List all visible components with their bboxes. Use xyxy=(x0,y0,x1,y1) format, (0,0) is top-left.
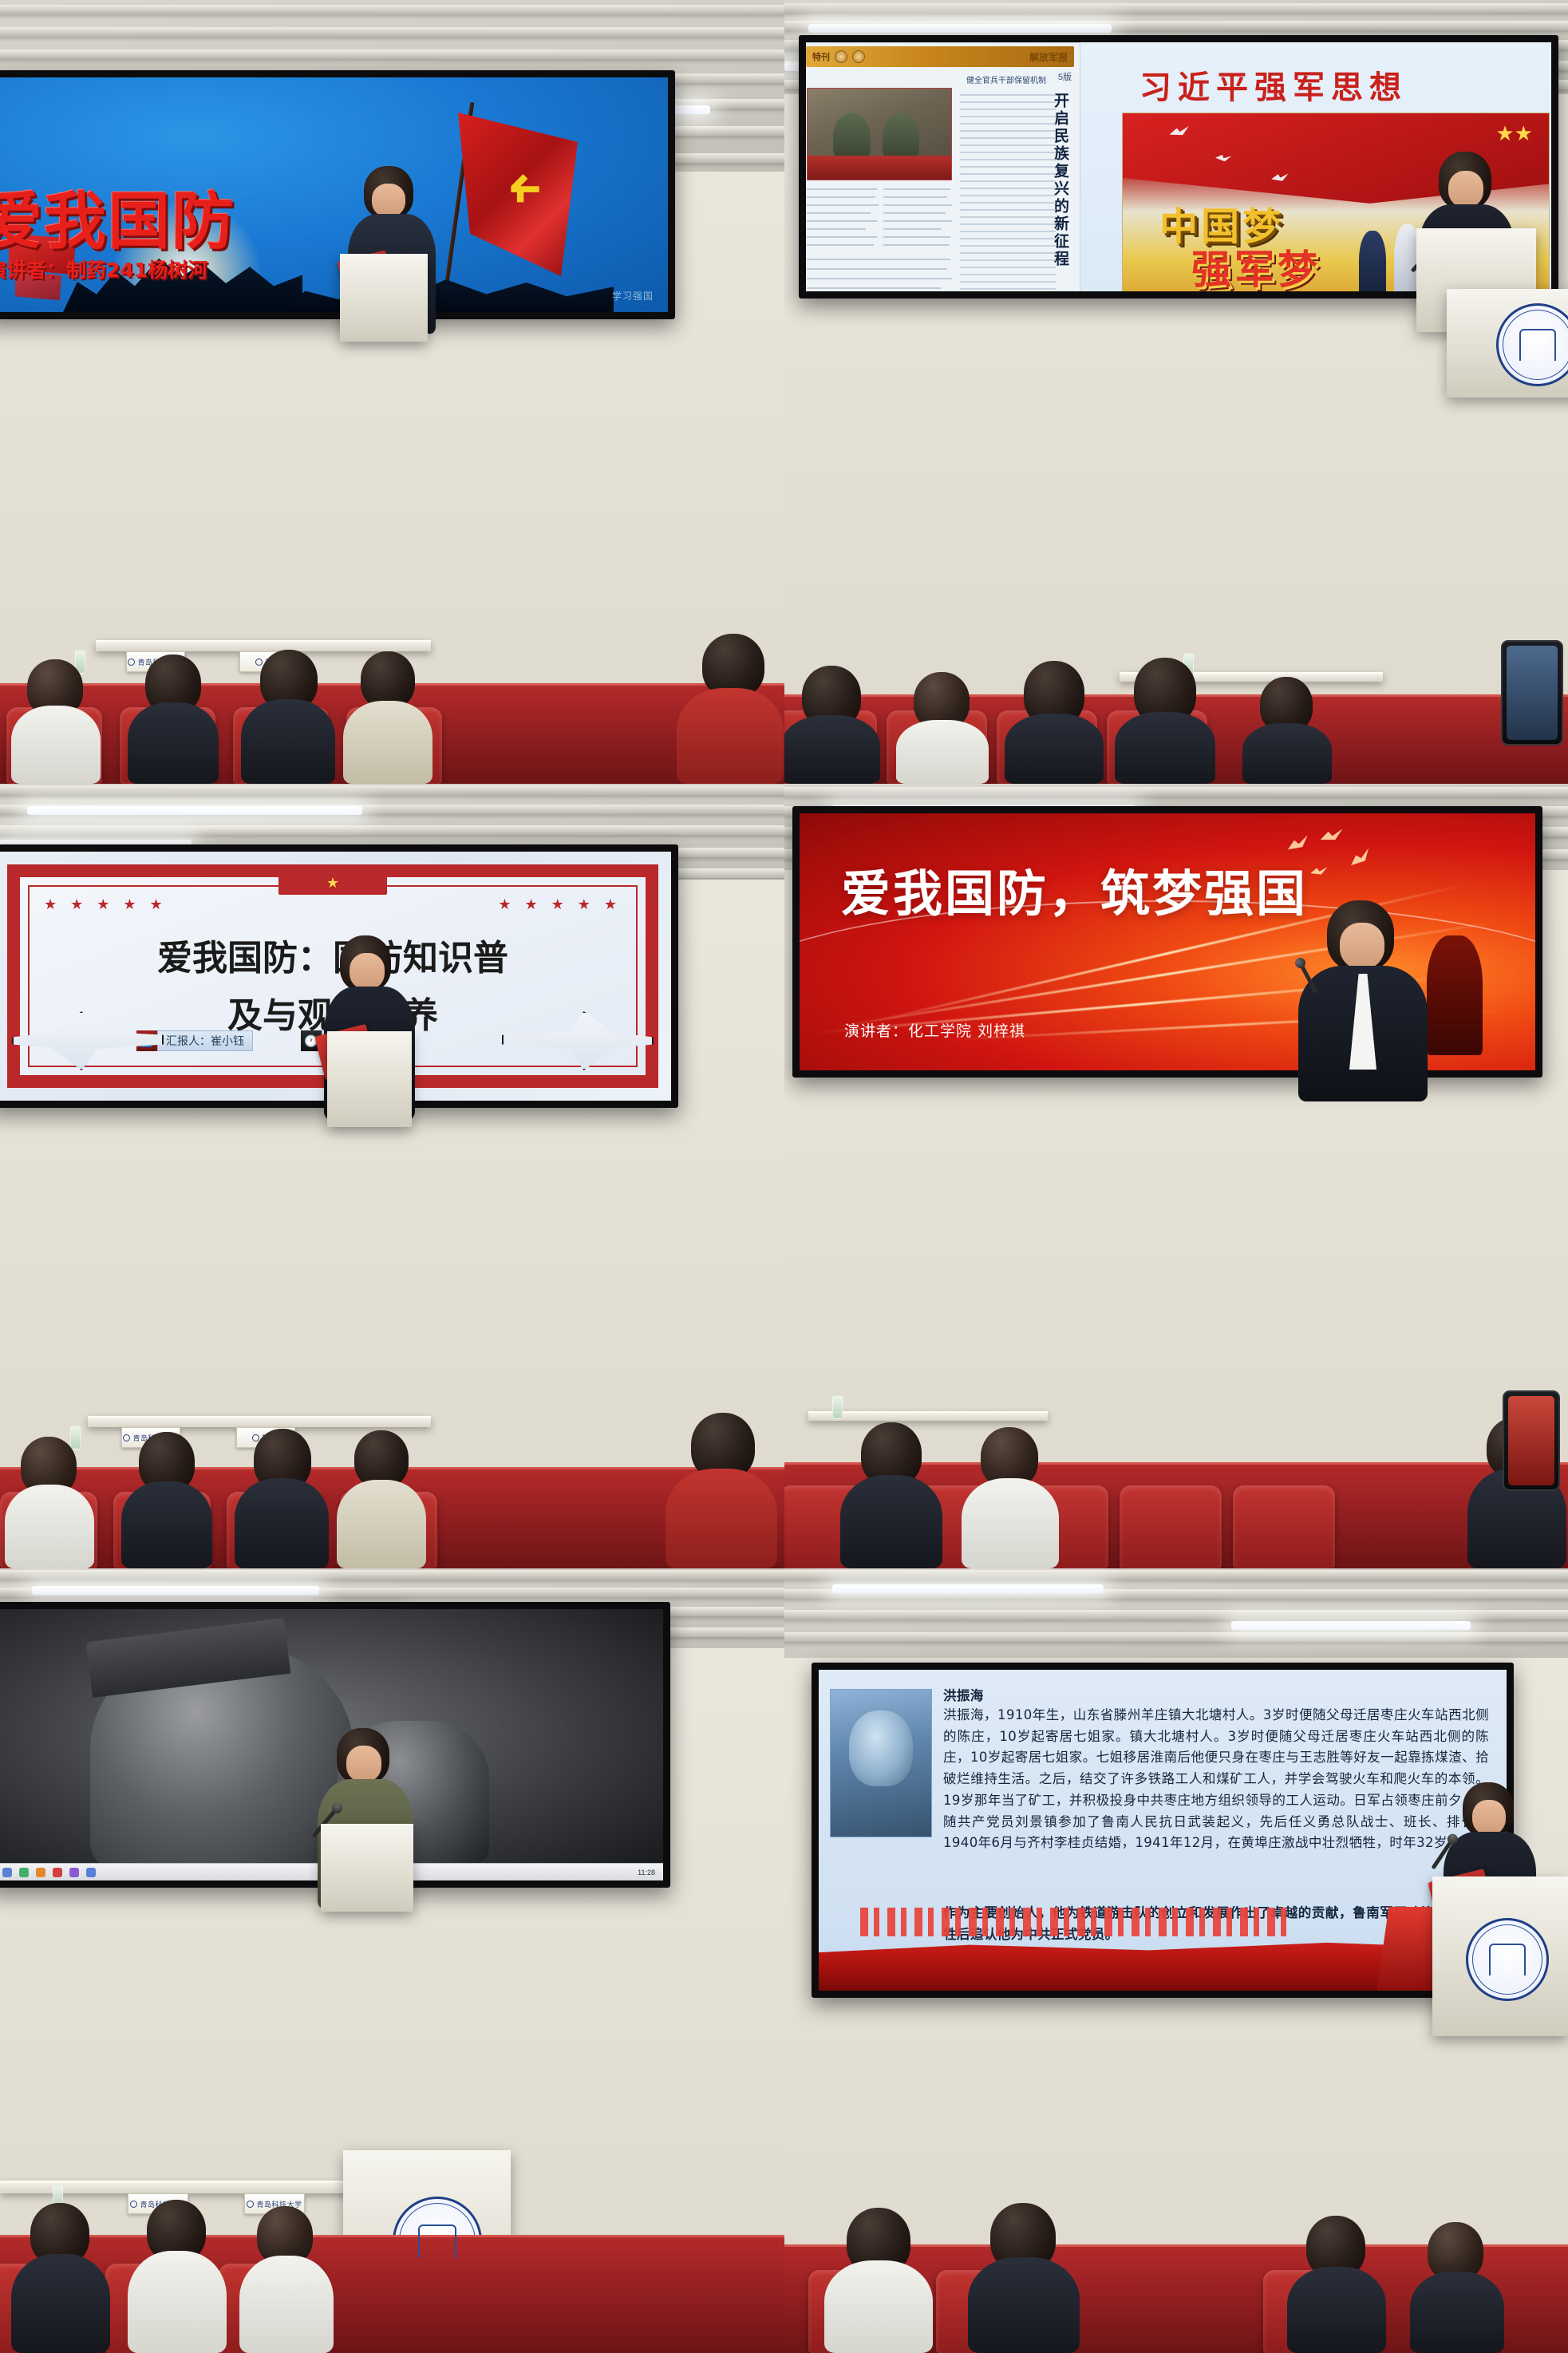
slide-6: 洪振海洪振海，1910年生，山东省滕州羊庄镇大北塘村人。3岁时便随父母迁居枣庄火… xyxy=(819,1670,1507,1991)
podium-6 xyxy=(1432,1876,1568,2036)
slide-1-watermark: 学习强国 xyxy=(612,289,654,303)
podium-1 xyxy=(340,254,428,342)
newspaper-page-no: 5版 xyxy=(1058,70,1072,83)
audience-5: 青岛科技大学 青岛科技大学 xyxy=(0,2158,784,2353)
app-icon-1[interactable] xyxy=(2,1868,12,1877)
phone-recording xyxy=(1503,1390,1560,1491)
banner-line-2: 强军梦 xyxy=(1191,238,1321,295)
phone-recording xyxy=(1501,640,1563,745)
podium-2-front xyxy=(1447,289,1568,397)
app-icon-3[interactable] xyxy=(36,1868,45,1877)
newspaper-subheadline: 健全官兵干部保留机制 xyxy=(966,73,1046,85)
podium-3 xyxy=(327,1031,412,1127)
audience-6 xyxy=(784,2201,1568,2353)
newspaper-name: 解放军报 xyxy=(1029,50,1068,64)
panel-1-speech-photo: 爱我国防 演讲者：制药241杨树河 学习强国 青岛科技大学 赵 津 xyxy=(0,0,784,784)
app-icon-6[interactable] xyxy=(86,1868,96,1877)
university-emblem-icon xyxy=(1466,1918,1549,2001)
slide-4-speaker: 演讲者：化工学院 刘梓祺 xyxy=(844,1019,1025,1041)
audience-1: 青岛科技大学 赵 津 xyxy=(0,632,784,784)
presenter-chip-label: 汇报人：崔小钰 xyxy=(157,1030,253,1051)
led-screen-1: 爱我国防 演讲者：制药241杨树河 学习强国 xyxy=(0,70,675,319)
audience-2 xyxy=(784,656,1568,784)
app-icon-5[interactable] xyxy=(69,1868,79,1877)
photo-collage: 爱我国防 演讲者：制药241杨树河 学习强国 青岛科技大学 赵 津 xyxy=(0,0,1568,2353)
slide-1-title: 爱我国防 xyxy=(0,172,235,261)
subject-name: 洪振海 xyxy=(943,1688,984,1703)
panel-5-speech-photo: 11:28 青岛科技大学 青岛科技大学 xyxy=(0,1568,784,2353)
audience-3: 青岛科技大学 赵 津 xyxy=(0,1405,784,1568)
newspaper-column-note: 世界领听中国 xyxy=(807,290,855,299)
panel-4-speech-photo: 爱我国防，筑梦强国 演讲者：化工学院 刘梓祺 xyxy=(784,784,1568,1568)
university-emblem-icon xyxy=(1496,303,1568,386)
panel-6-speech-photo: 洪振海洪振海，1910年生，山东省滕州羊庄镇大北塘村人。3岁时便随父母迁居枣庄火… xyxy=(784,1568,1568,2353)
taskbar-clock: 11:28 xyxy=(638,1869,655,1876)
newspaper-masthead: 特刊 xyxy=(812,50,830,63)
app-icon-4[interactable] xyxy=(53,1868,62,1877)
podium-5 xyxy=(321,1824,413,1912)
presenter-4 xyxy=(1295,900,1431,1100)
led-screen-6: 洪振海洪振海，1910年生，山东省滕州羊庄镇大北塘村人。3岁时便随父母迁居枣庄火… xyxy=(812,1663,1514,1998)
ceiling xyxy=(784,1568,1568,1658)
slide-2-heading: 习近平强军思想 xyxy=(1139,61,1408,108)
app-icon-2[interactable] xyxy=(19,1868,29,1877)
stars-left: ★ ★ ★ ★ ★ xyxy=(44,896,168,913)
audience-4 xyxy=(784,1405,1568,1568)
biography-body: 洪振海，1910年生，山东省滕州羊庄镇大北塘村人。3岁时便随父母迁居枣庄火车站西… xyxy=(943,1705,1489,1854)
slide-1-speaker: 演讲者：制药241杨树河 xyxy=(0,255,207,283)
panel-3-speech-photo: ★ ★ ★ ★ ★ ★ ★ ★ ★ ★ ★ 爱我国防：国防知识普 及与观念培养 … xyxy=(0,784,784,1568)
slide-1: 爱我国防 演讲者：制药241杨树河 学习强国 xyxy=(0,77,668,312)
panel-2-speech-photo: 特刊 解放军报 5版 开启民族复兴的新征程 xyxy=(784,0,1568,784)
newspaper-page: 特刊 解放军报 5版 开启民族复兴的新征程 xyxy=(800,42,1080,299)
stars-right: ★ ★ ★ ★ ★ xyxy=(498,896,622,913)
slide-4-title: 爱我国防，筑梦强国 xyxy=(841,853,1308,925)
